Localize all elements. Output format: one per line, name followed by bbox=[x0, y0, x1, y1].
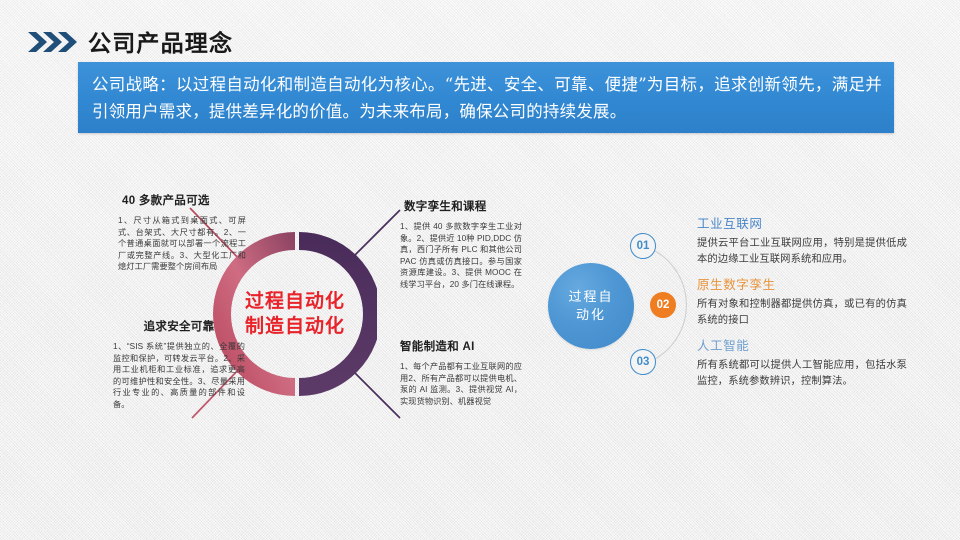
block-digital-twin: 数字孪生和课程 1、提供 40 多款数字孪生工业对象。2、提供近 10种 PID… bbox=[400, 198, 522, 291]
company-strategy-text: 公司战略：以过程自动化和制造自动化为核心。“先进、安全、可靠、便捷”为目标，追求… bbox=[92, 71, 882, 125]
right-core-circle: 过程自 动化 bbox=[548, 263, 634, 349]
right-item-artificial-intelligence-body: 所有系统都可以提供人工智能应用，包括水泵监控，系统参数辨识，控制算法。 bbox=[697, 357, 907, 389]
triple-chevron-right-icon bbox=[28, 29, 80, 55]
right-item-native-digital-twin-title: 原生数字孪生 bbox=[697, 276, 907, 293]
block-smart-manufacturing-ai: 智能制造和 AI 1、每个产品都有工业互联网的应用2、所有产品都可以提供电机、泵… bbox=[400, 338, 522, 407]
right-item-industrial-internet-body: 提供云平台工业互联网应用，特别是提供低成本的边缘工业互联网系统和应用。 bbox=[697, 235, 907, 267]
badge-02[interactable]: 02 bbox=[650, 292, 676, 318]
donut-center-line-1: 过程自动化 bbox=[245, 289, 345, 314]
block-smart-manufacturing-ai-body: 1、每个产品都有工业互联网的应用2、所有产品都可以提供电机、泵的 AI 监测。3… bbox=[400, 361, 522, 407]
block-safety-title: 追求安全可靠 bbox=[113, 318, 245, 334]
badge-03[interactable]: 03 bbox=[630, 349, 656, 375]
right-core-line-1: 过程自 bbox=[568, 288, 613, 306]
block-products-body: 1、尺寸从箱式到桌面式、可屏式、台架式、大尺寸都有。2、一个普通桌面就可以部署一… bbox=[118, 215, 246, 273]
slide-canvas: 公司产品理念 公司战略：以过程自动化和制造自动化为核心。“先进、安全、可靠、便捷… bbox=[0, 0, 960, 540]
right-item-industrial-internet-title: 工业互联网 bbox=[697, 215, 907, 232]
page-title: 公司产品理念 bbox=[88, 24, 233, 58]
badge-02-label: 02 bbox=[657, 299, 670, 311]
block-safety-body: 1、“SIS 系统”提供独立的、全覆的监控和保护，可转发云平台。2、采用工业机柜… bbox=[113, 341, 245, 411]
badge-03-label: 03 bbox=[637, 356, 650, 368]
block-products-title: 40 多款产品可选 bbox=[118, 192, 246, 208]
right-core-line-2: 动化 bbox=[576, 306, 606, 324]
block-digital-twin-title: 数字孪生和课程 bbox=[400, 198, 522, 214]
company-strategy-banner: 公司战略：以过程自动化和制造自动化为核心。“先进、安全、可靠、便捷”为目标，追求… bbox=[78, 62, 894, 133]
right-item-native-digital-twin-body: 所有对象和控制器都提供仿真，或已有的仿真系统的接口 bbox=[697, 296, 907, 328]
block-digital-twin-body: 1、提供 40 多款数字孪生工业对象。2、提供近 10种 PID,DDC 仿真，… bbox=[400, 221, 522, 291]
badge-01-label: 01 bbox=[637, 240, 650, 252]
donut-center-line-2: 制造自动化 bbox=[245, 314, 345, 339]
right-item-industrial-internet: 工业互联网 提供云平台工业互联网应用，特别是提供低成本的边缘工业互联网系统和应用… bbox=[697, 215, 907, 267]
block-products: 40 多款产品可选 1、尺寸从箱式到桌面式、可屏式、台架式、大尺寸都有。2、一个… bbox=[118, 192, 246, 273]
right-item-artificial-intelligence: 人工智能 所有系统都可以提供人工智能应用，包括水泵监控，系统参数辨识，控制算法。 bbox=[697, 337, 907, 389]
right-circle-diagram: 过程自 动化 01 02 03 bbox=[540, 225, 690, 385]
right-item-artificial-intelligence-title: 人工智能 bbox=[697, 337, 907, 354]
block-safety: 追求安全可靠 1、“SIS 系统”提供独立的、全覆的监控和保护，可转发云平台。2… bbox=[113, 318, 245, 411]
right-item-native-digital-twin: 原生数字孪生 所有对象和控制器都提供仿真，或已有的仿真系统的接口 bbox=[697, 276, 907, 328]
block-smart-manufacturing-ai-title: 智能制造和 AI bbox=[400, 338, 522, 354]
badge-01[interactable]: 01 bbox=[630, 233, 656, 259]
